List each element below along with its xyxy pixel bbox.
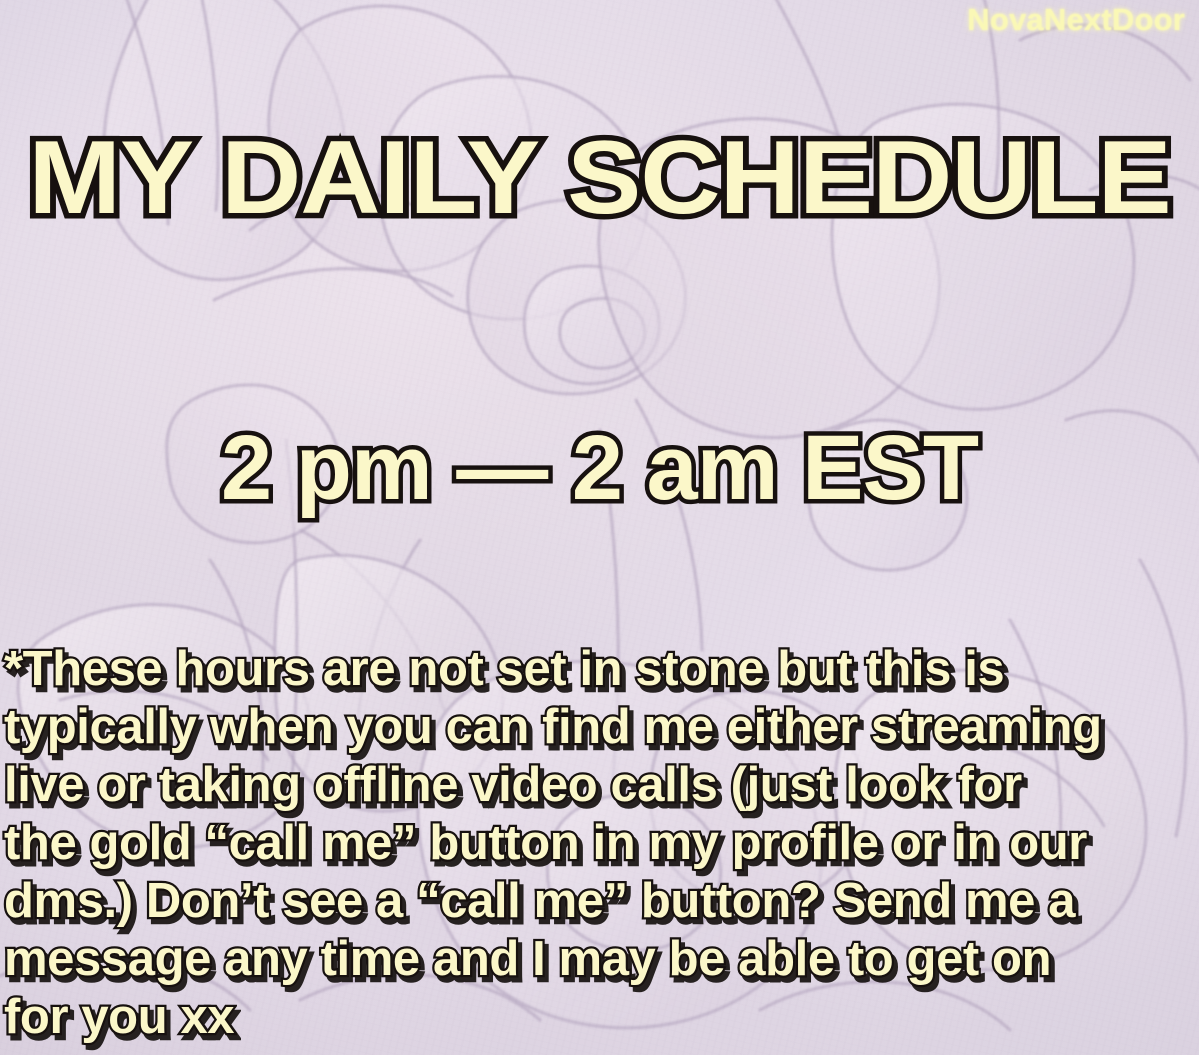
note-line: dms.) Don’t see a “call me” button? Send… [4,872,1199,930]
note-line: message any time and I may be able to ge… [4,930,1199,988]
note-line: live or taking offline video calls (just… [4,756,1199,814]
watermark-novanextdoor: NovaNextDoor [967,2,1185,38]
note-line: *These hours are not set in stone but th… [4,640,1199,698]
note-line: for you xx [4,988,1199,1046]
page-title: MY DAILY SCHEDULE [0,126,1199,230]
schedule-hours-subtitle: 2 pm — 2 am EST [0,422,1199,514]
schedule-graphic: NovaNextDoor MY DAILY SCHEDULE 2 pm — 2 … [0,0,1199,1055]
note-line: typically when you can find me either st… [4,698,1199,756]
note-line: the gold “call me” button in my profile … [4,814,1199,872]
schedule-note-paragraph: *These hours are not set in stone but th… [4,640,1199,1046]
